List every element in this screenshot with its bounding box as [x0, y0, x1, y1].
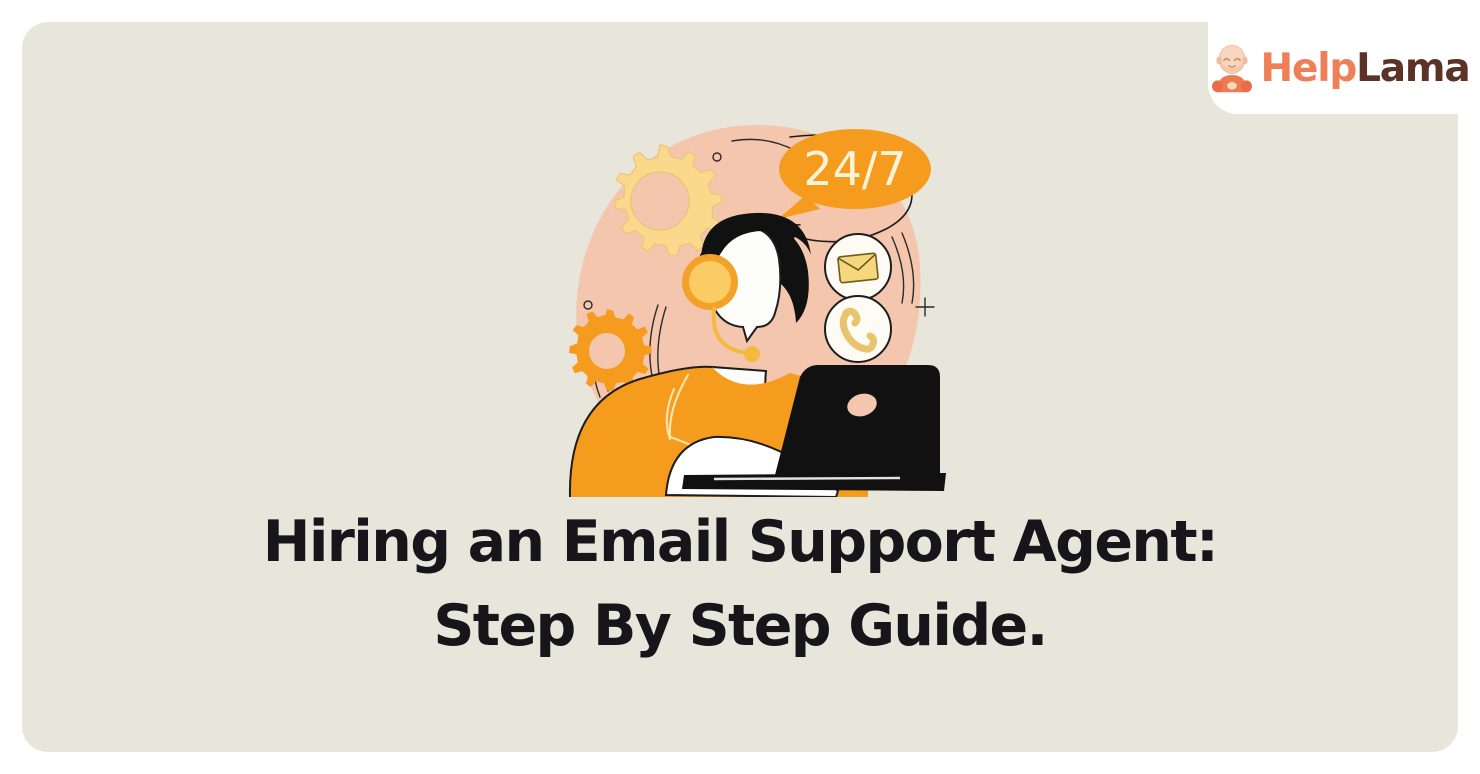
- page-title: Hiring an Email Support Agent: Step By S…: [22, 500, 1458, 668]
- screenshot-root: HelpLama: [0, 0, 1480, 774]
- content-card: HelpLama: [22, 22, 1458, 752]
- lama-monk-icon: [1205, 41, 1259, 95]
- customer-support-agent-illustration: 24/7: [562, 117, 952, 497]
- email-badge: [825, 234, 891, 300]
- brand-word-help: Help: [1261, 46, 1357, 91]
- brand-wordmark: HelpLama: [1261, 49, 1470, 88]
- speech-bubble-label: 24/7: [803, 142, 906, 196]
- brand-logo: HelpLama: [1205, 41, 1470, 95]
- brand-logo-badge[interactable]: HelpLama: [1208, 22, 1458, 114]
- page-title-line-2: Step By Step Guide.: [22, 584, 1458, 668]
- page-title-line-1: Hiring an Email Support Agent:: [22, 500, 1458, 584]
- email-icon: [838, 253, 879, 283]
- phone-badge: [825, 296, 891, 362]
- brand-word-lama: Lama: [1356, 46, 1469, 91]
